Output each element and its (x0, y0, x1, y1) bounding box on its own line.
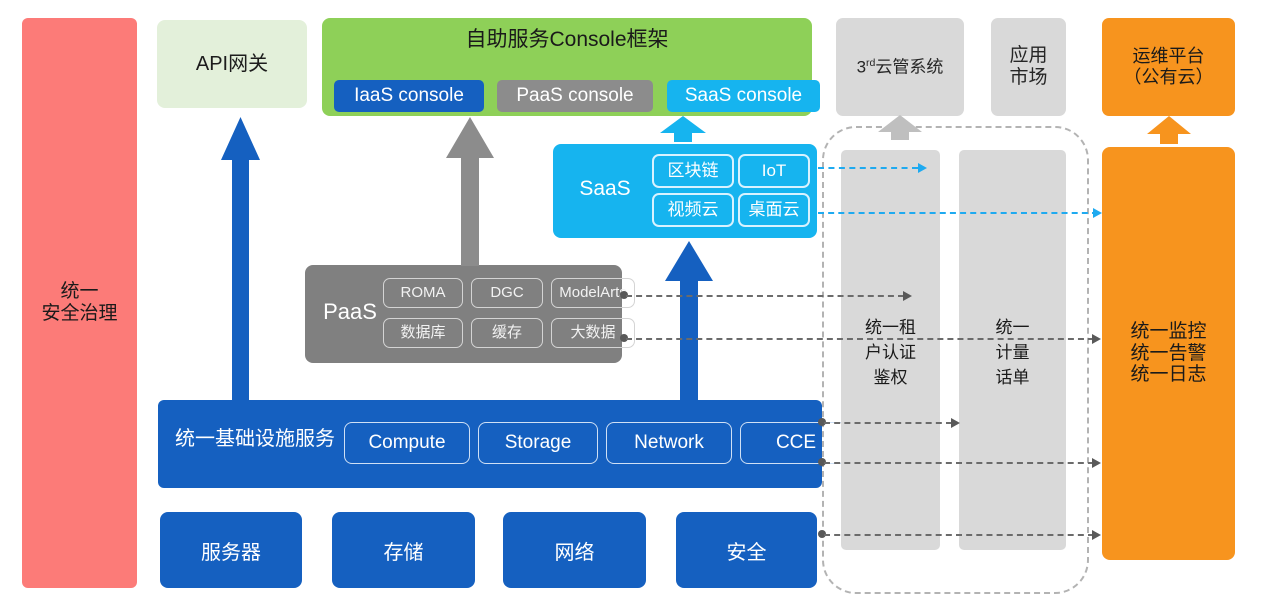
infra-chip-storage[interactable]: Storage (478, 422, 598, 464)
hardware-box-security: 安全 (676, 512, 817, 588)
dash-infra-to-ops (824, 462, 1094, 464)
metering-billing-column: 统一 计量 话单 (959, 150, 1066, 550)
paas-chip-database[interactable]: 数据库 (383, 318, 463, 348)
paas-chip-dgc[interactable]: DGC (471, 278, 543, 308)
paas-box: PaaS ROMA DGC ModelArts 数据库 缓存 大数据 (305, 265, 622, 363)
infra-chip-network[interactable]: Network (606, 422, 732, 464)
architecture-diagram: 统一 安全治理 API网关 自助服务Console框架 IaaS console… (0, 0, 1265, 605)
hardware-box-server: 服务器 (160, 512, 302, 588)
arrow-ops-panel-to-ops-head (1147, 116, 1191, 144)
dash-paas-to-ops (626, 338, 1094, 340)
saas-label: SaaS (565, 177, 645, 201)
dash-saas-to-ops (818, 212, 1098, 214)
paas-console-chip[interactable]: PaaS console (497, 80, 653, 112)
security-governance-panel: 统一 安全治理 (22, 18, 137, 588)
arrowhead-saas-to-ops (1093, 208, 1102, 218)
api-gateway-label: API网关 (196, 53, 268, 76)
arrow-paas-to-console (446, 117, 494, 266)
metering-billing-label: 统一 计量 话单 (996, 313, 1030, 388)
infra-chip-compute[interactable]: Compute (344, 422, 470, 464)
dash-infra-to-tenant-auth (824, 422, 952, 424)
arrowhead-infra-to-tenant-auth (951, 418, 960, 428)
dash-paas-to-tenant-auth (626, 295, 904, 297)
paas-chip-bigdata[interactable]: 大数据 (551, 318, 635, 348)
saas-box: SaaS 区块链 IoT 视频云 桌面云 (553, 144, 817, 238)
saas-chip-iot[interactable]: IoT (738, 154, 810, 188)
paas-label: PaaS (315, 299, 385, 324)
hardware-box-storage: 存储 (332, 512, 475, 588)
saas-console-chip[interactable]: SaaS console (667, 80, 820, 112)
api-gateway-box: API网关 (157, 20, 307, 108)
console-framework-title: 自助服务Console框架 (322, 28, 812, 52)
infrastructure-box: 统一基础设施服务 Compute Storage Network CCE (158, 400, 822, 488)
arrow-saas-to-saas-console (660, 116, 706, 142)
arrow-infra-to-api-gateway (221, 117, 260, 400)
ops-platform-head-box: 运维平台 （公有云） (1102, 18, 1235, 116)
ops-platform-head-label: 运维平台 （公有云） (1124, 46, 1214, 87)
saas-chip-video-cloud[interactable]: 视频云 (652, 193, 734, 227)
app-market-box: 应用 市场 (991, 18, 1066, 116)
console-framework-box: 自助服务Console框架 IaaS console PaaS console … (322, 18, 812, 116)
ops-monitoring-panel: 统一监控 统一告警 统一日志 (1102, 147, 1235, 560)
paas-chip-cache[interactable]: 缓存 (471, 318, 543, 348)
tenant-auth-label: 统一租 户认证 鉴权 (865, 313, 916, 388)
dash-hardware-to-ops (824, 534, 1094, 536)
hardware-box-network: 网络 (503, 512, 646, 588)
saas-chip-blockchain[interactable]: 区块链 (652, 154, 734, 188)
third-party-cloud-mgmt-box: 3rd云管系统 (836, 18, 964, 116)
iaas-console-chip[interactable]: IaaS console (334, 80, 484, 112)
tenant-auth-column: 统一租 户认证 鉴权 (841, 150, 940, 550)
arrowhead-paas-to-tenant-auth (903, 291, 912, 301)
arrow-infra-to-saas (665, 241, 713, 400)
ops-monitoring-label: 统一监控 统一告警 统一日志 (1130, 321, 1206, 387)
paas-chip-roma[interactable]: ROMA (383, 278, 463, 308)
security-governance-label: 统一 安全治理 (41, 281, 117, 325)
infrastructure-label: 统一基础设施服务 (170, 428, 340, 451)
dash-saas-to-tenant-auth (818, 167, 918, 169)
arrowhead-hardware-to-ops (1092, 530, 1101, 540)
saas-chip-desktop-cloud[interactable]: 桌面云 (738, 193, 810, 227)
app-market-label: 应用 市场 (1009, 45, 1047, 89)
arrowhead-saas-to-tenant-auth (918, 163, 927, 173)
arrowhead-paas-to-ops (1092, 334, 1101, 344)
arrowhead-infra-to-ops (1092, 458, 1101, 468)
third-party-cloud-mgmt-label: 3rd云管系统 (857, 57, 944, 77)
